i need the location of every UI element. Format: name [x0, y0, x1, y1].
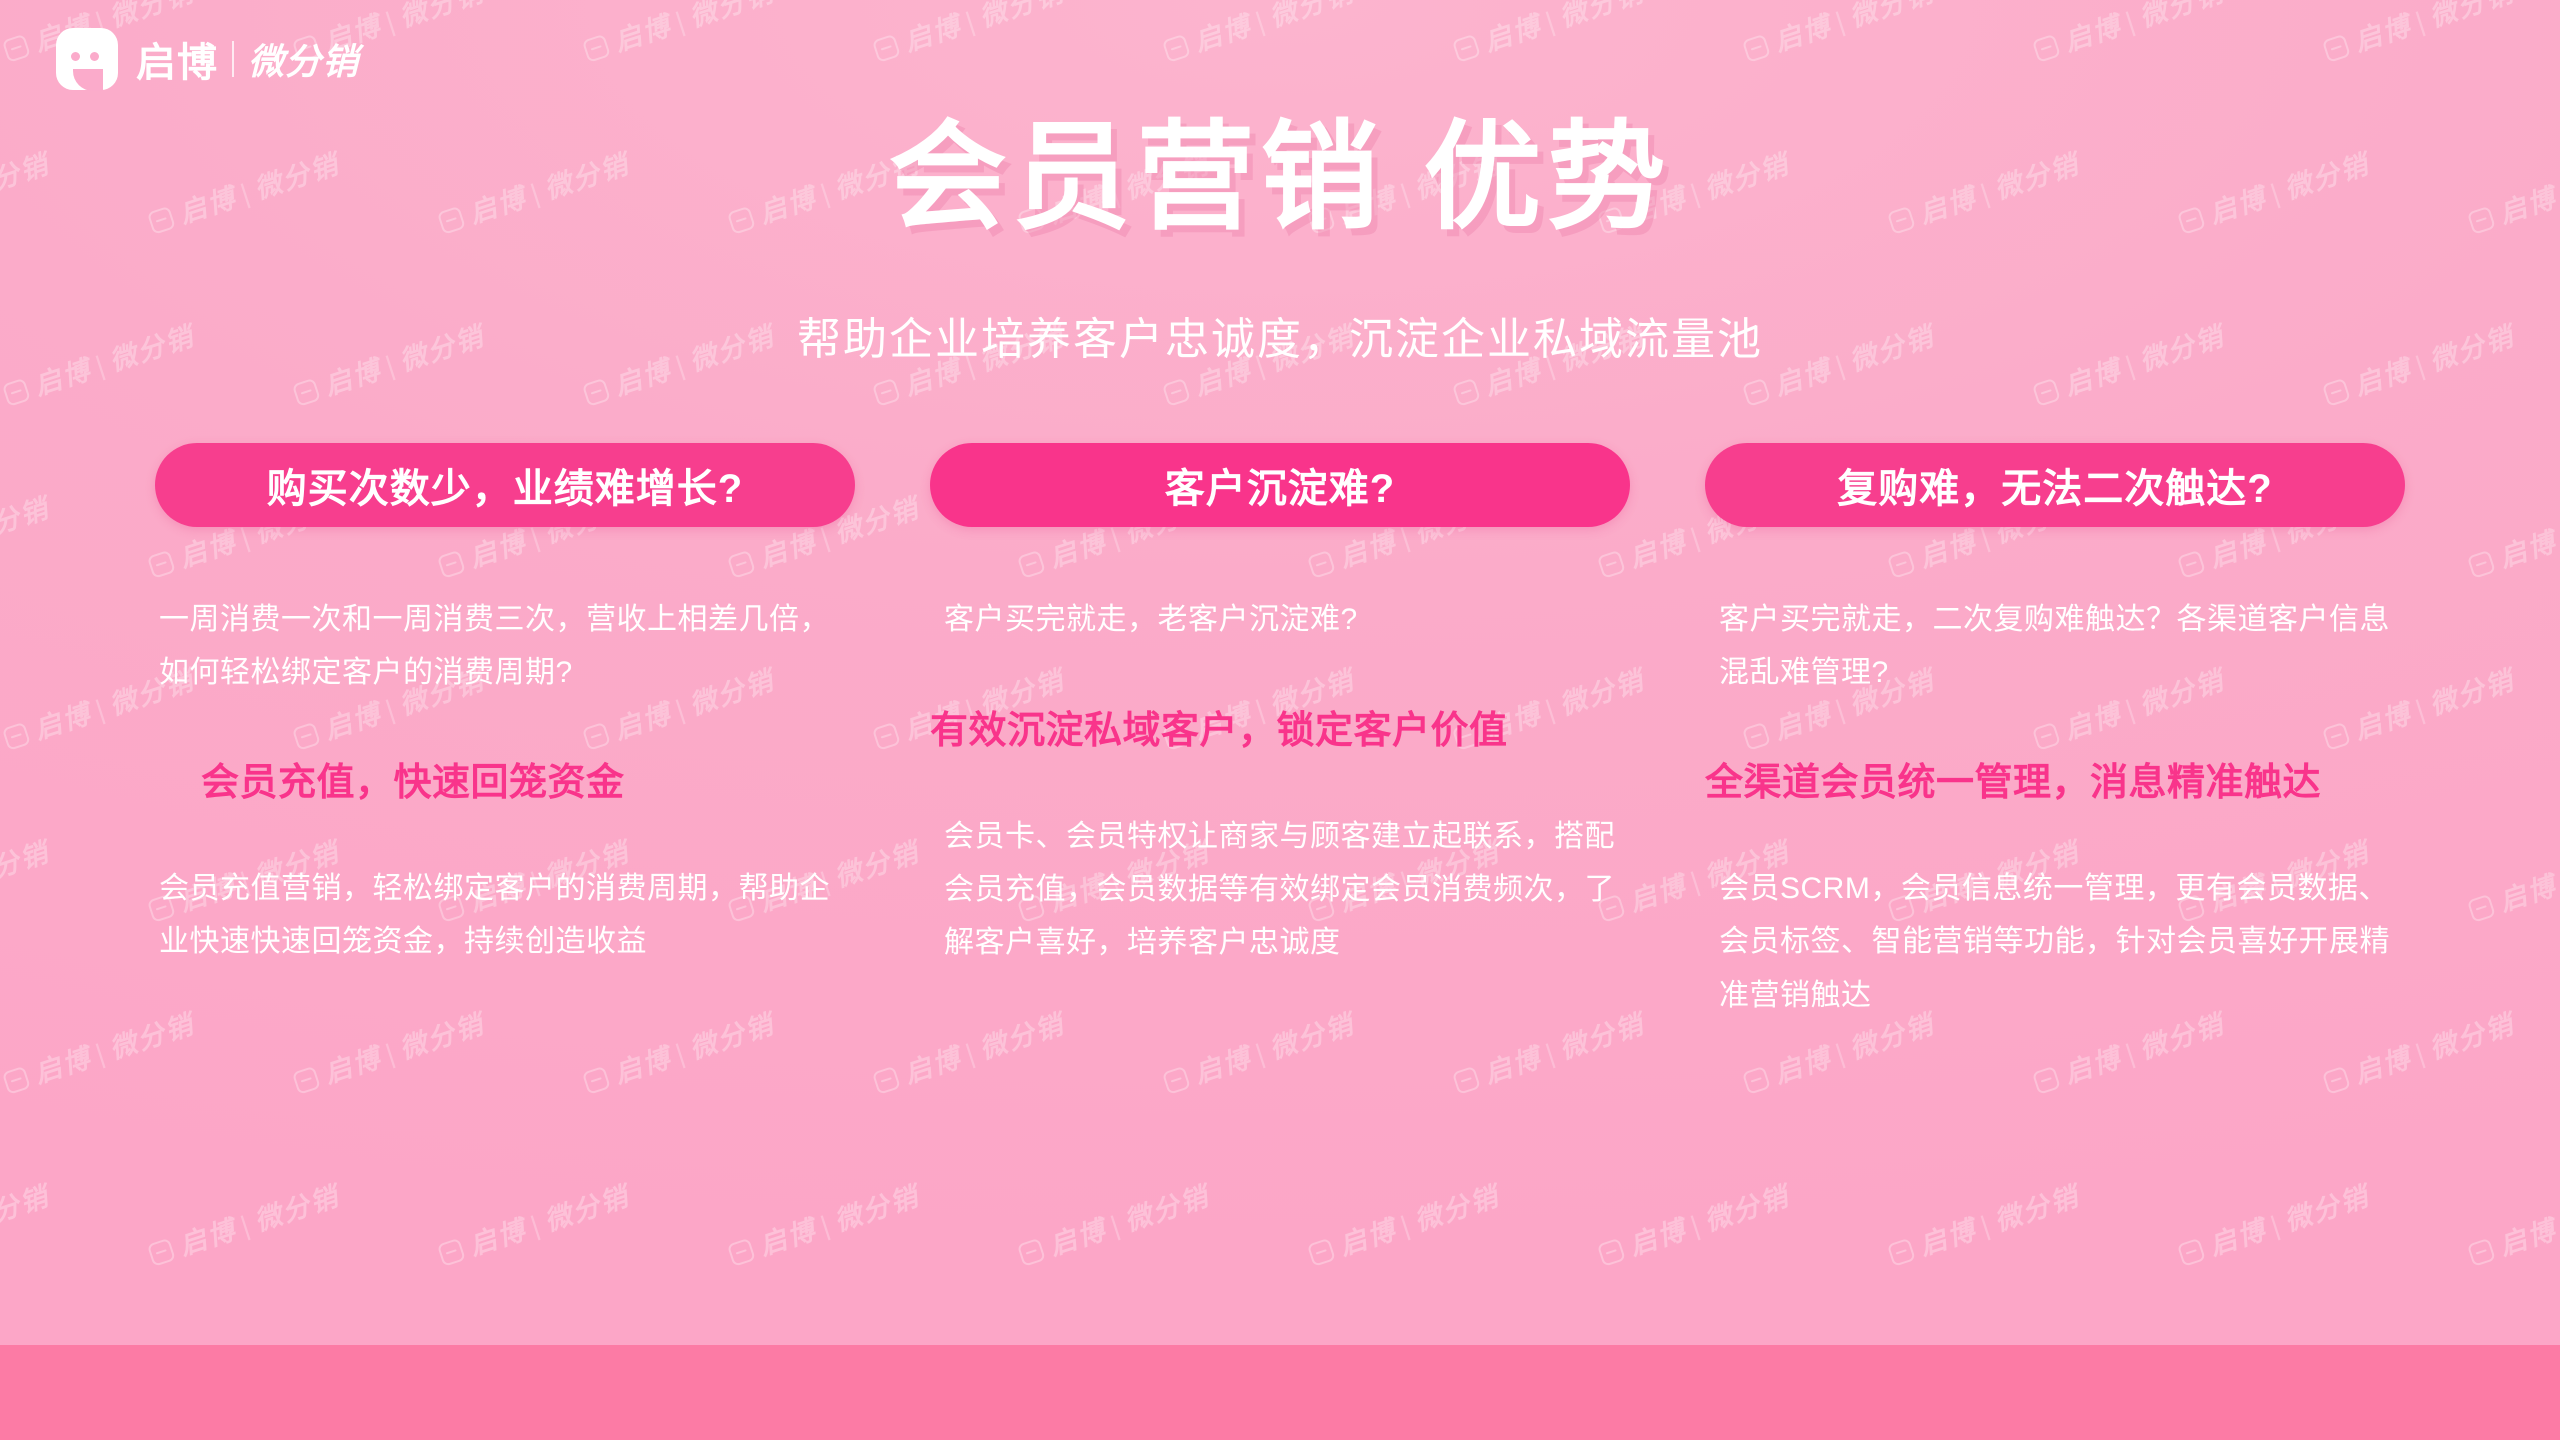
brand-name: 启博 — [136, 30, 218, 88]
problem-text-2: 客户买完就走，老客户沉淀难? — [930, 594, 1630, 647]
brand-logo[interactable]: 启博 微分销 — [56, 28, 359, 90]
solution-detail-3: 会员SCRM，会员信息统一管理，更有会员数据、会员标签、智能营销等功能，针对会员… — [1705, 862, 2405, 1022]
solution-detail-2: 会员卡、会员特权让商家与顾客建立起联系，搭配会员充值，会员数据等有效绑定会员消费… — [930, 810, 1630, 970]
solution-heading-2: 有效沉淀私域客户，锁定客户价值 — [930, 699, 1630, 754]
problem-text-1: 一周消费一次和一周消费三次，营收上相差几倍，如何轻松绑定客户的消费周期? — [155, 594, 855, 699]
logo-wordmark: 启博 微分销 — [136, 30, 359, 88]
problem-text-3: 客户买完就走，二次复购难触达？各渠道客户信息混乱难管理? — [1705, 594, 2405, 699]
problem-badge-3[interactable]: 复购难，无法二次触达? — [1705, 443, 2405, 527]
logo-divider — [232, 41, 234, 77]
feature-column-3: 复购难，无法二次触达? 客户买完就走，二次复购难触达？各渠道客户信息混乱难管理?… — [1705, 443, 2405, 1022]
problem-badge-1[interactable]: 购买次数少，业绩难增长? — [155, 443, 855, 527]
chat-smiley-icon — [56, 28, 118, 90]
page-root: 启博 微分销 会员营销 优势 帮助企业培养客户忠诚度，沉淀企业私域流量池 购买次… — [0, 0, 2560, 1440]
feature-columns: 购买次数少，业绩难增长? 一周消费一次和一周消费三次，营收上相差几倍，如何轻松绑… — [0, 443, 2560, 1022]
problem-badge-2[interactable]: 客户沉淀难? — [930, 443, 1630, 527]
solution-detail-1: 会员充值营销，轻松绑定客户的消费周期，帮助企业快速快速回笼资金，持续创造收益 — [155, 862, 855, 969]
solution-heading-1: 会员充值，快速回笼资金 — [155, 751, 855, 806]
feature-column-1: 购买次数少，业绩难增长? 一周消费一次和一周消费三次，营收上相差几倍，如何轻松绑… — [155, 443, 855, 1022]
page-subtitle: 帮助企业培养客户忠诚度，沉淀企业私域流量池 — [0, 303, 2560, 367]
bottom-band — [0, 1345, 2560, 1440]
solution-heading-3: 全渠道会员统一管理，消息精准触达 — [1705, 751, 2405, 806]
page-title: 会员营销 优势 — [0, 112, 2560, 244]
brand-product: 微分销 — [248, 33, 359, 85]
feature-column-2: 客户沉淀难? 客户买完就走，老客户沉淀难? 有效沉淀私域客户，锁定客户价值 会员… — [930, 443, 1630, 1022]
